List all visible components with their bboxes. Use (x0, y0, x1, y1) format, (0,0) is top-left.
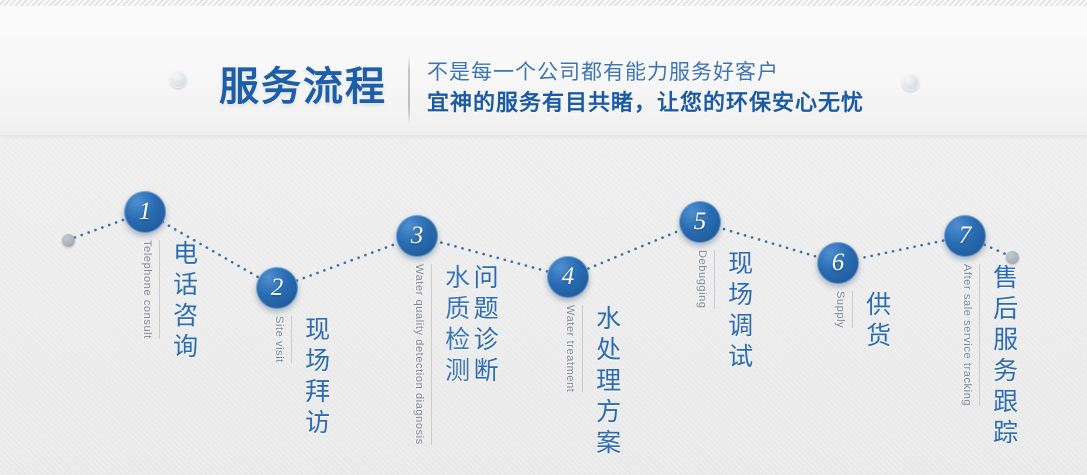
flow-start-dot (62, 234, 75, 247)
flow-node-number: 5 (694, 209, 707, 234)
flow-label-cn: 水处理方案 (590, 305, 619, 460)
flow-label-cn: 现场拜访 (299, 316, 328, 440)
flow-label-cn: 售后服务跟踪 (987, 264, 1016, 450)
flow-node-number: 3 (411, 223, 424, 248)
header-subtitle-group: 不是每一个公司都有能力服务好客户 宜神的服务有目共睹，让您的环保安心无忧 (427, 59, 864, 118)
subtitle-line-2: 宜神的服务有目共睹，让您的环保安心无忧 (427, 87, 864, 118)
flow-label-4: 水处理方案Water treatment (564, 305, 619, 460)
decorative-bolt-right-icon (902, 74, 919, 91)
flow-label-en: Water quality detection diagnosis (413, 264, 432, 445)
flow-node-2[interactable]: 2 (256, 267, 298, 309)
process-flow-area: 1234567 电话咨询Telephone consult现场拜访Site vi… (0, 136, 1087, 475)
flow-label-en: After sale service tracking (961, 264, 980, 406)
page-title: 服务流程 (219, 54, 387, 112)
flow-node-5[interactable]: 5 (679, 201, 721, 243)
header-plate: 服务流程 不是每一个公司都有能力服务好客户 宜神的服务有目共睹，让您的环保安心无… (0, 6, 1087, 136)
flow-node-3[interactable]: 3 (396, 215, 438, 257)
flow-label-cn: 现场调试 (722, 250, 751, 374)
flow-label-en: Telephone consult (141, 240, 160, 339)
flow-label-en: Site visit (273, 316, 292, 363)
flow-label-6: 供货Supply (834, 291, 889, 353)
subtitle-line-1: 不是每一个公司都有能力服务好客户 (427, 59, 864, 87)
flow-label-3: 问题诊断水质检测Water quality detection diagnosi… (413, 264, 496, 445)
service-process-banner: 服务流程 不是每一个公司都有能力服务好客户 宜神的服务有目共睹，让您的环保安心无… (0, 0, 1087, 475)
flow-node-number: 1 (139, 199, 152, 224)
flow-node-number: 7 (959, 223, 972, 248)
flow-label-2: 现场拜访Site visit (273, 316, 328, 440)
flow-label-7: 售后服务跟踪After sale service tracking (961, 264, 1016, 450)
flow-node-number: 2 (271, 275, 284, 300)
flow-label-5: 现场调试Debugging (696, 250, 751, 374)
flow-node-7[interactable]: 7 (944, 215, 986, 257)
flow-label-en: Debugging (696, 250, 715, 309)
decorative-bolt-left-icon (170, 71, 187, 88)
flow-label-cn: 电话咨询 (167, 240, 196, 364)
flow-label-cn: 供货 (860, 291, 889, 353)
flow-node-4[interactable]: 4 (547, 256, 589, 298)
flow-label-cn: 问题诊断 (468, 264, 497, 388)
flow-end-dot (1006, 251, 1019, 264)
flow-node-6[interactable]: 6 (817, 242, 859, 284)
flow-label-en: Supply (834, 291, 853, 328)
flow-node-1[interactable]: 1 (124, 191, 166, 233)
flow-node-number: 4 (562, 264, 575, 289)
flow-label-cn-secondary: 水质检测 (439, 264, 468, 388)
header-divider (408, 56, 410, 124)
flow-node-number: 6 (832, 250, 845, 275)
flow-label-en: Water treatment (564, 305, 583, 392)
flow-label-1: 电话咨询Telephone consult (141, 240, 196, 364)
